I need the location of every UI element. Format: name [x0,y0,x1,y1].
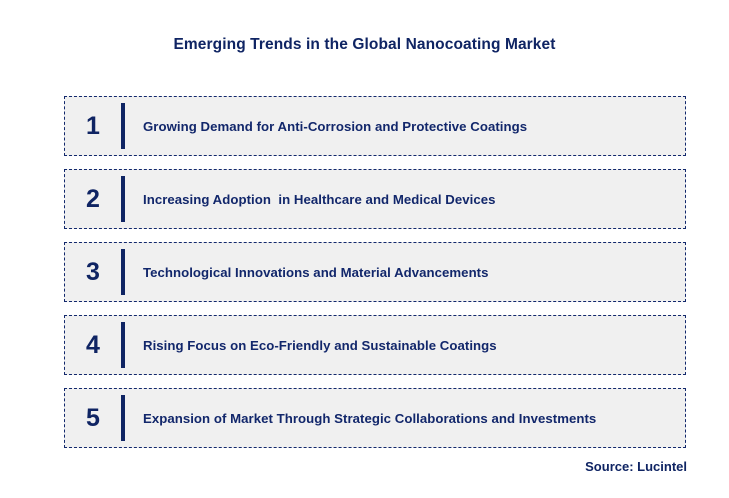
trend-label: Growing Demand for Anti-Corrosion and Pr… [125,119,685,134]
trend-number: 4 [65,333,121,358]
trend-row: 4 Rising Focus on Eco-Friendly and Susta… [64,315,686,375]
trend-label: Increasing Adoption in Healthcare and Me… [125,192,685,207]
trend-row: 5 Expansion of Market Through Strategic … [64,388,686,448]
trend-row: 3 Technological Innovations and Material… [64,242,686,302]
page-title: Emerging Trends in the Global Nanocoatin… [0,36,729,54]
trend-number: 3 [65,260,121,285]
trend-label: Expansion of Market Through Strategic Co… [125,411,685,426]
trend-label: Technological Innovations and Material A… [125,265,685,280]
trend-row: 2 Increasing Adoption in Healthcare and … [64,169,686,229]
source-attribution: Source: Lucintel [585,459,687,474]
trend-list: 1 Growing Demand for Anti-Corrosion and … [64,96,686,448]
trend-number: 1 [65,114,121,139]
trend-row: 1 Growing Demand for Anti-Corrosion and … [64,96,686,156]
trend-number: 2 [65,187,121,212]
infographic-page: Emerging Trends in the Global Nanocoatin… [0,0,729,498]
trend-label: Rising Focus on Eco-Friendly and Sustain… [125,338,685,353]
trend-number: 5 [65,406,121,431]
